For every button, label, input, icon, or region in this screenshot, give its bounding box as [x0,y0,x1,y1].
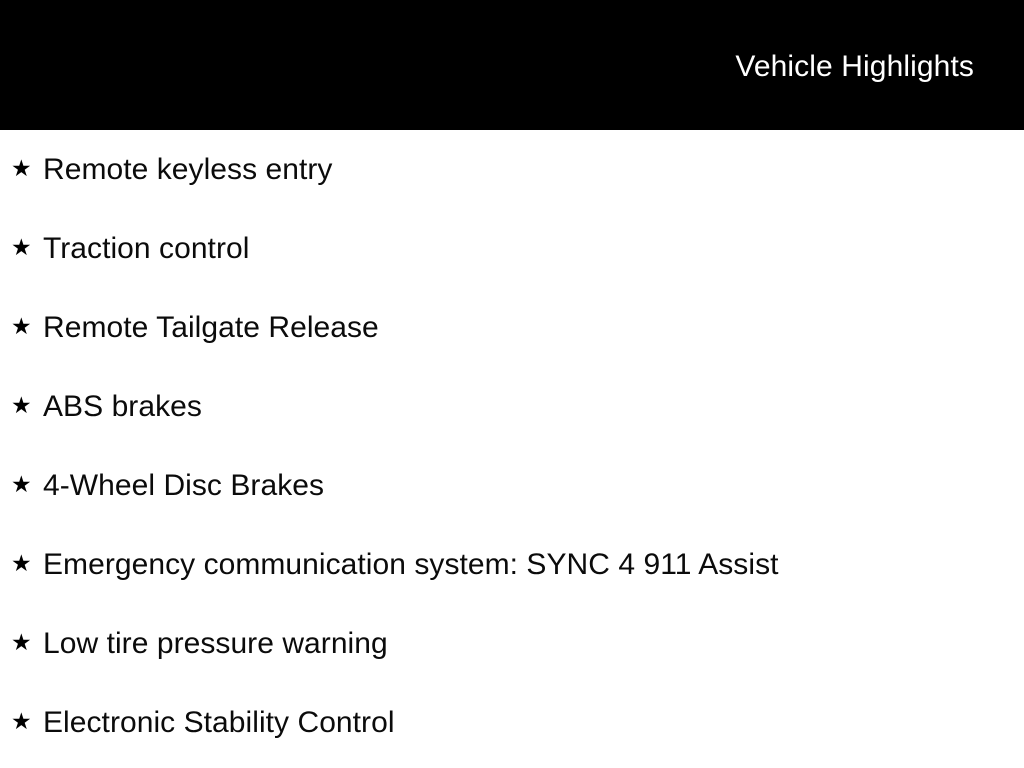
star-icon: ★ [11,157,43,180]
list-item: ★ 4-Wheel Disc Brakes [0,446,1024,525]
star-icon: ★ [11,631,43,654]
list-item-label: Low tire pressure warning [43,627,1024,661]
list-item-label: Traction control [43,232,1024,266]
list-item-label: ABS brakes [43,390,1024,424]
vehicle-highlights-page: Vehicle Highlights ★ Remote keyless entr… [0,0,1024,768]
list-item: ★ Remote keyless entry [0,130,1024,209]
list-item-label: Remote keyless entry [43,153,1024,187]
list-item: ★ Emergency communication system: SYNC 4… [0,525,1024,604]
header-bar: Vehicle Highlights [0,0,1024,130]
star-icon: ★ [11,315,43,338]
list-item: ★ Traction control [0,209,1024,288]
star-icon: ★ [11,710,43,733]
highlights-list: ★ Remote keyless entry ★ Traction contro… [0,130,1024,762]
star-icon: ★ [11,236,43,259]
list-item-label: Remote Tailgate Release [43,311,1024,345]
list-item: ★ Low tire pressure warning [0,604,1024,683]
star-icon: ★ [11,394,43,417]
list-item-label: Emergency communication system: SYNC 4 9… [43,548,1024,582]
list-item-label: 4-Wheel Disc Brakes [43,469,1024,503]
page-title: Vehicle Highlights [735,50,974,84]
list-item: ★ Remote Tailgate Release [0,288,1024,367]
highlights-section: ★ Remote keyless entry ★ Traction contro… [0,130,1024,762]
star-icon: ★ [11,473,43,496]
list-item: ★ Electronic Stability Control [0,683,1024,762]
star-icon: ★ [11,552,43,575]
list-item: ★ ABS brakes [0,367,1024,446]
list-item-label: Electronic Stability Control [43,706,1024,740]
